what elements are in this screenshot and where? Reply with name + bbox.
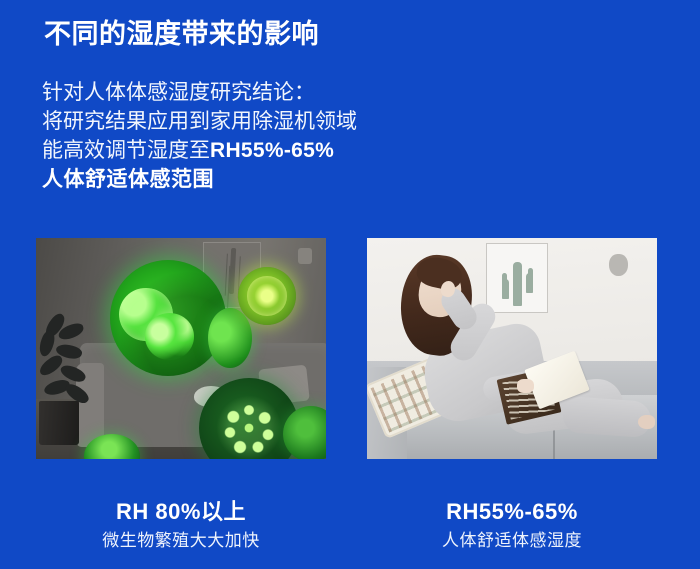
humidity-range-emphasis: RH55%-65%	[210, 139, 334, 162]
body-copy-line-2: 将研究结果应用到家用除湿机领域	[42, 107, 357, 136]
microbe-yellow-green-icon	[238, 267, 296, 325]
woman-hand-holding-book	[517, 379, 534, 393]
caption-comfort-humidity: RH55%-65% 人体舒适体感湿度	[367, 498, 657, 553]
body-copy-block: 针对人体体感湿度研究结论： 将研究结果应用到家用除湿机领域 能高效调节湿度至RH…	[42, 78, 357, 194]
page-title: 不同的湿度带来的影响	[44, 19, 319, 50]
caption-right-sub: 人体舒适体感湿度	[367, 529, 657, 553]
microbe-cluster-edge-icon	[208, 308, 252, 368]
microbe-large-icon	[110, 260, 226, 376]
wall-speaker-icon	[609, 254, 628, 276]
wall-object-dim-icon	[298, 248, 312, 264]
photo-high-humidity	[36, 238, 326, 459]
cactus-wall-art-frame	[486, 243, 548, 313]
dim-plant-pot	[39, 401, 79, 445]
body-copy-line-3-plain: 能高效调节湿度至	[42, 139, 210, 162]
caption-right-main: RH55%-65%	[367, 498, 657, 526]
dim-houseplant-foliage	[36, 315, 94, 407]
caption-high-humidity: RH 80%以上 微生物繁殖大大加快	[36, 498, 326, 553]
body-copy-line-3: 能高效调节湿度至RH55%-65%	[42, 136, 357, 165]
humidity-infographic-poster: 不同的湿度带来的影响 针对人体体感湿度研究结论： 将研究结果应用到家用除湿机领域…	[0, 0, 700, 569]
caption-left-sub: 微生物繁殖大大加快	[36, 529, 326, 553]
photo-comfort-humidity	[367, 238, 657, 459]
body-copy-line-4: 人体舒适体感范围	[42, 165, 357, 194]
body-copy-line-1: 针对人体体感湿度研究结论：	[42, 78, 357, 107]
cactus-icon	[513, 262, 522, 306]
woman-foot	[638, 415, 655, 429]
caption-left-main: RH 80%以上	[36, 498, 326, 526]
